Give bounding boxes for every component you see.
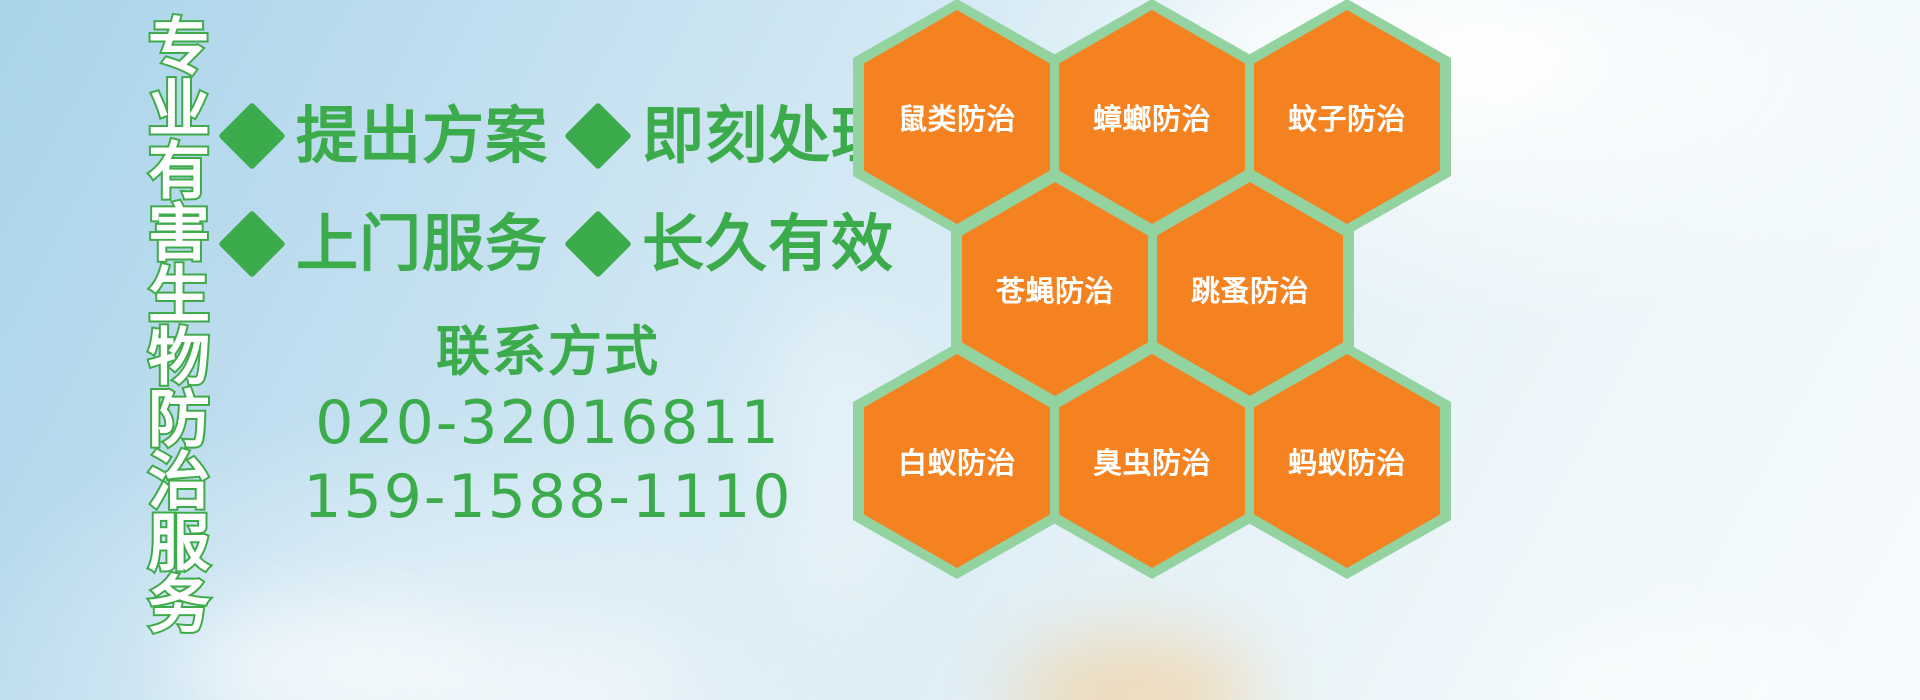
feature-item-immediate-handling: 即刻处理: [574, 105, 894, 167]
service-hex-label: 臭虫防治: [1093, 440, 1211, 482]
background-blur-blob: [1010, 636, 1260, 700]
service-hex-label: 白蚁防治: [898, 440, 1016, 482]
contact-phone-landline[interactable]: 020-32016811: [268, 386, 828, 460]
diamond-icon: [218, 210, 286, 278]
background-blur-blob: [1500, 620, 1830, 700]
vertical-banner-title: 专业有害生物防治服务: [112, 14, 204, 574]
service-hex-label: 跳蚤防治: [1191, 268, 1309, 310]
service-hex-label: 蟑螂防治: [1093, 96, 1211, 138]
background-blur-blob: [180, 610, 480, 700]
service-hex-label: 苍蝇防治: [996, 268, 1114, 310]
contact-heading: 联系方式: [268, 318, 828, 386]
feature-label: 上门服务: [296, 213, 548, 275]
feature-item-long-lasting: 长久有效: [574, 213, 894, 275]
feature-row: 提出方案 即刻处理: [228, 82, 868, 190]
feature-list: 提出方案 即刻处理 上门服务 长久有效: [228, 82, 868, 298]
service-hex-label: 蚊子防治: [1288, 96, 1406, 138]
background-blur-blob: [430, 640, 690, 700]
service-honeycomb: 鼠类防治 蟑螂防治 蚊子防治 苍蝇防治 跳蚤防治: [858, 0, 1458, 560]
diamond-icon: [564, 210, 632, 278]
service-hex-label: 鼠类防治: [898, 96, 1016, 138]
service-hex-ant-control[interactable]: 蚂蚁防治: [1254, 354, 1440, 568]
service-hex-label: 蚂蚁防治: [1288, 440, 1406, 482]
feature-row: 上门服务 长久有效: [228, 190, 868, 298]
diamond-icon: [564, 102, 632, 170]
contact-phone-mobile[interactable]: 159-1588-1110: [268, 460, 828, 534]
feature-label: 提出方案: [296, 105, 548, 167]
feature-label: 长久有效: [642, 213, 894, 275]
contact-block: 联系方式 020-32016811 159-1588-1110: [268, 318, 828, 534]
pest-control-service-banner: 专业有害生物防治服务 提出方案 即刻处理 上门服务 长久有效 联系方式 0: [0, 0, 1920, 700]
diamond-icon: [218, 102, 286, 170]
feature-item-propose-plan: 提出方案: [228, 105, 548, 167]
service-hex-termite-control[interactable]: 白蚁防治: [864, 354, 1050, 568]
feature-item-onsite-service: 上门服务: [228, 213, 548, 275]
service-hex-bedbug-control[interactable]: 臭虫防治: [1059, 354, 1245, 568]
